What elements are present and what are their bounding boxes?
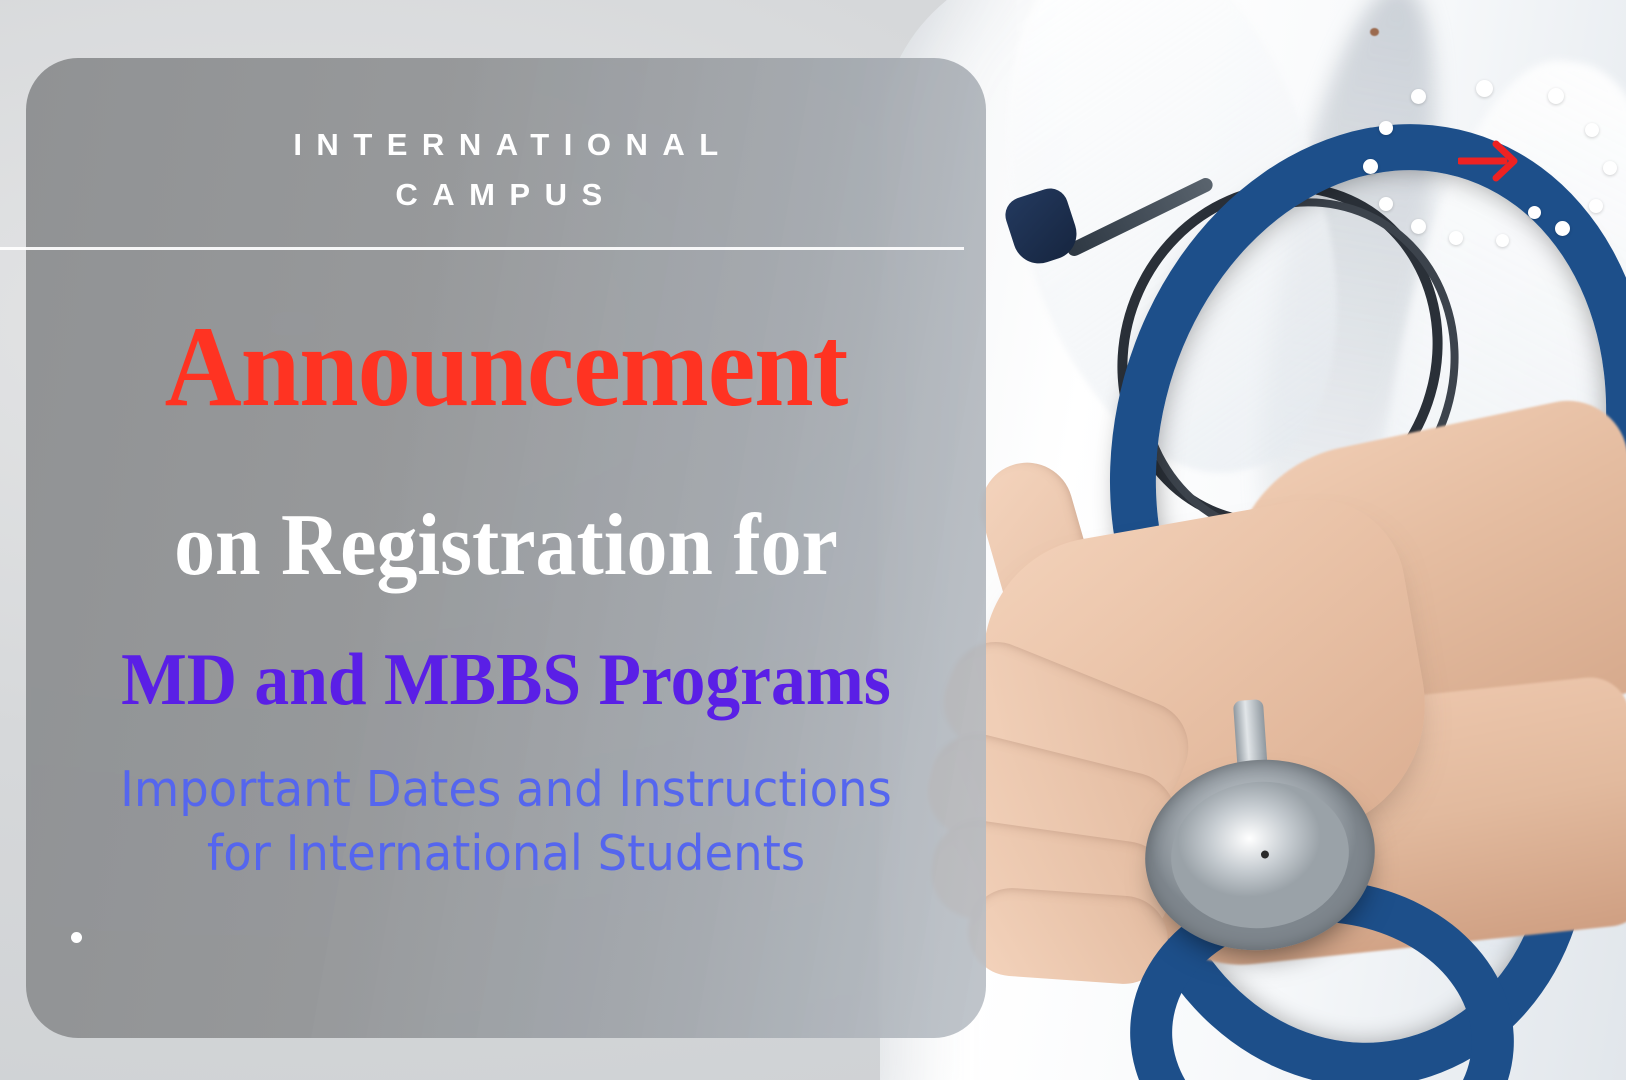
- campus-header: INTERNATIONAL CAMPUS: [26, 120, 986, 220]
- announcement-card: INTERNATIONAL CAMPUS Announcement on Reg…: [26, 58, 986, 1038]
- decorative-dot: [1363, 159, 1378, 174]
- decorative-dot: [1496, 234, 1509, 247]
- campus-header-line1: INTERNATIONAL: [293, 127, 732, 162]
- announcement-subject-line: on Registration for: [60, 498, 953, 594]
- announcement-poster: INTERNATIONAL CAMPUS Announcement on Reg…: [0, 0, 1626, 1080]
- decorative-dot: [1379, 197, 1393, 211]
- finger: [965, 885, 1171, 987]
- decorative-dot: [1548, 88, 1564, 104]
- subtitle-line2: for International Students: [207, 825, 805, 882]
- campus-header-line2: CAMPUS: [395, 177, 616, 212]
- decorative-dot: [1379, 121, 1393, 135]
- decorative-dot: [1585, 123, 1599, 137]
- decorative-dot: [1476, 80, 1493, 97]
- decorative-dot: [1603, 161, 1617, 175]
- announcement-title: Announcement: [64, 308, 947, 426]
- header-divider: [0, 247, 964, 250]
- decorative-dot: [1449, 231, 1463, 245]
- decorative-dot: [1555, 221, 1570, 236]
- programs-line: MD and MBBS Programs: [55, 638, 957, 722]
- card-accent-dot: [71, 932, 82, 943]
- decorative-dot: [1589, 199, 1603, 213]
- decorative-dot: [1528, 206, 1541, 219]
- subtitle-block: Important Dates and Instructions for Int…: [69, 758, 943, 886]
- decorative-dot: [1411, 89, 1426, 104]
- right-arrow-icon: [1458, 138, 1520, 184]
- decorative-dot: [1411, 219, 1426, 234]
- skin-mole: [1370, 28, 1379, 36]
- subtitle-line1: Important Dates and Instructions: [120, 761, 892, 818]
